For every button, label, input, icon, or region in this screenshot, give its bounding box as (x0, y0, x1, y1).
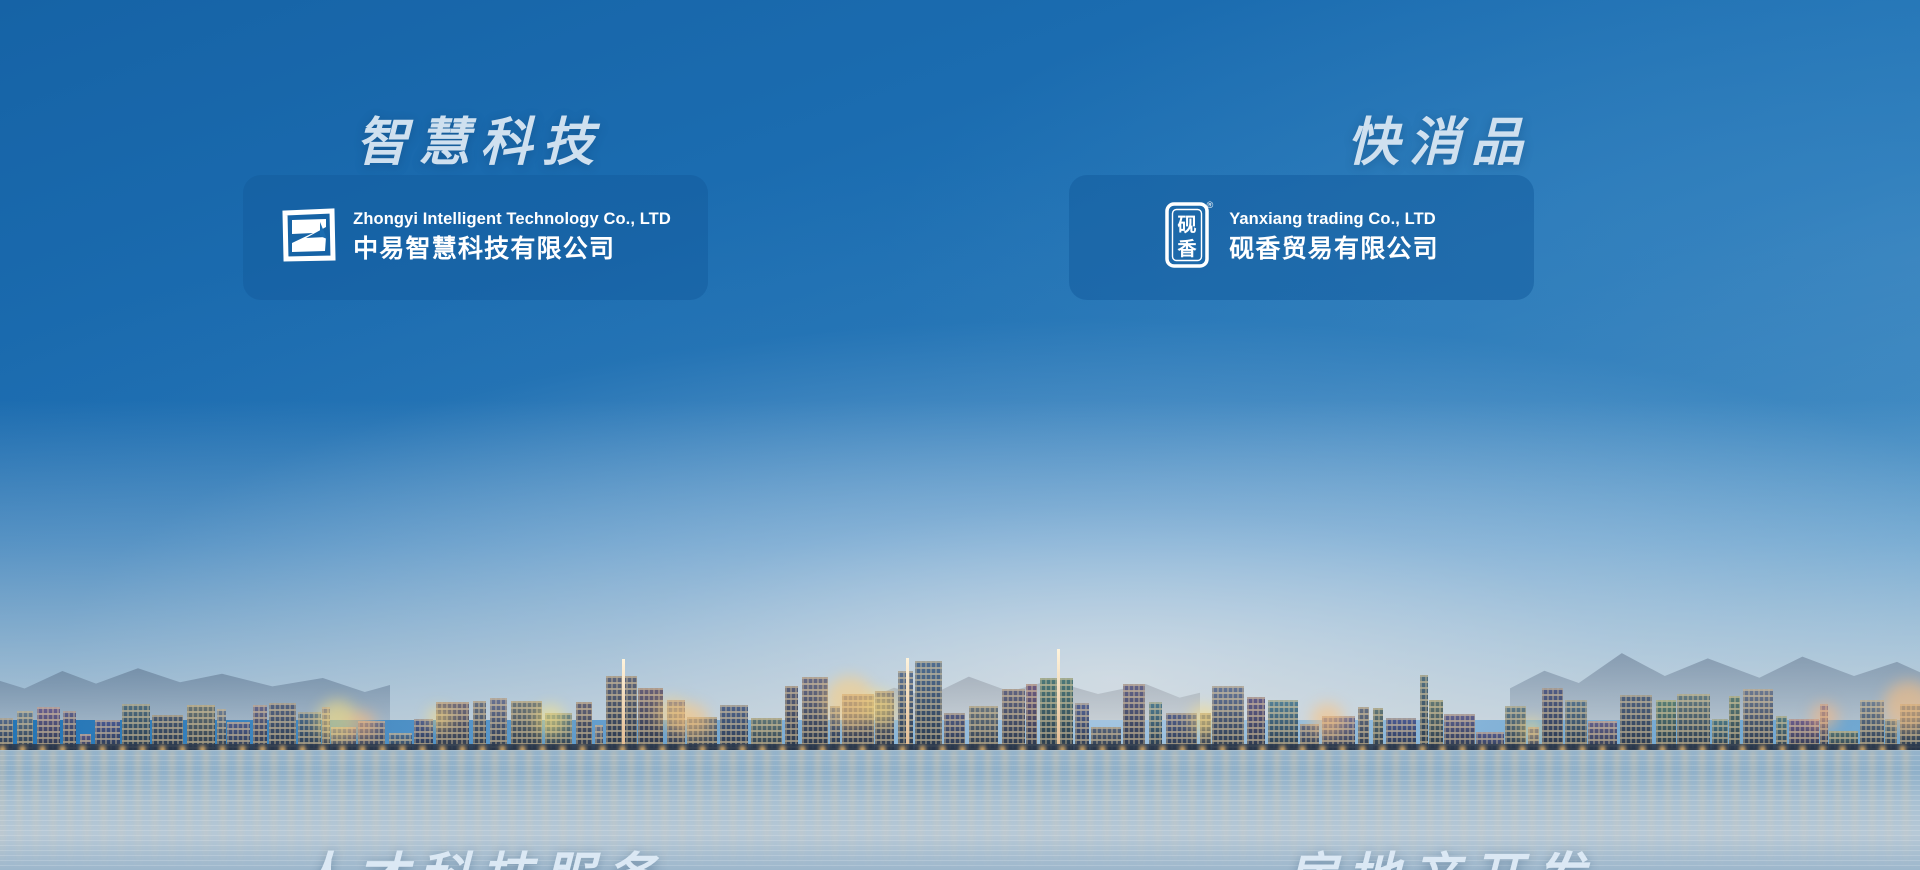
sector-section-fmcg: 快消品 砚 香 ® Yanxiang trading Co., LTD 砚香贸易… (960, 0, 1920, 435)
sector-heading-smart-technology: 智慧科技 (0, 100, 960, 175)
company-card-yanxiang-trading[interactable]: 砚 香 ® Yanxiang trading Co., LTD 砚香贸易有限公司 (1069, 175, 1534, 300)
company-name-en: Yanxiang trading Co., LTD (1229, 208, 1439, 230)
business-sectors-grid: 智慧科技 Zhongyi Intelligent Technology Co.,… (0, 0, 1920, 870)
company-name-en: Zhongyi Intelligent Technology Co., LTD (353, 208, 671, 230)
sector-heading-fmcg: 快消品 (960, 100, 1920, 175)
svg-text:香: 香 (1177, 238, 1198, 260)
company-name-cn: 中易智慧科技有限公司 (353, 233, 671, 267)
sector-heading-real-estate: 房地产开发 (960, 835, 1920, 870)
svg-text:®: ® (1207, 200, 1214, 210)
company-names-yanxiang-trading: Yanxiang trading Co., LTD 砚香贸易有限公司 (1229, 208, 1439, 266)
sector-section-smart-technology: 智慧科技 Zhongyi Intelligent Technology Co.,… (0, 0, 960, 435)
company-card-zhongyi[interactable]: Zhongyi Intelligent Technology Co., LTD … (243, 175, 708, 300)
zhongyi-z-logo-icon (280, 206, 338, 269)
yanxiang-seal-logo-icon: 砚 香 ® (1164, 199, 1214, 276)
sector-heading-talent-tech-services: 人才科技服务 (0, 835, 960, 870)
sector-section-talent-tech-services: 人才科技服务 NY Any technology development Co.… (0, 435, 960, 870)
company-name-cn: 砚香贸易有限公司 (1229, 233, 1439, 267)
svg-text:砚: 砚 (1178, 214, 1197, 236)
company-names-zhongyi: Zhongyi Intelligent Technology Co., LTD … (353, 208, 671, 266)
sector-section-real-estate: 房地产开发 Yanxiang real estate development C… (960, 435, 1920, 870)
